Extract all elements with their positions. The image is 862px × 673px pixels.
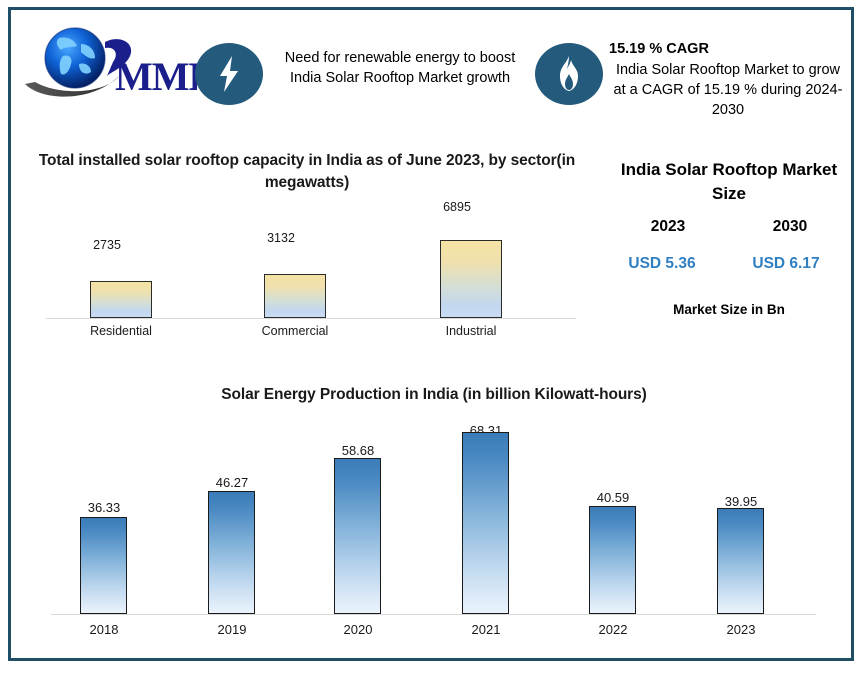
- lightning-bolt-icon: [195, 43, 263, 105]
- bar-industrial: [440, 240, 502, 318]
- bar-category-label: 2021: [431, 622, 541, 637]
- bar-value-label: 39.95: [696, 494, 786, 509]
- chart-solar-production: Solar Energy Production in India (in bil…: [17, 376, 851, 658]
- flame-glyph: [554, 54, 584, 94]
- chart-solar-production-title: Solar Energy Production in India (in bil…: [17, 386, 851, 404]
- bar-category-label: 2020: [303, 622, 413, 637]
- bar-value-label: 6895: [417, 200, 497, 214]
- svg-text:MMR: MMR: [115, 54, 197, 99]
- chart-solar-production-axis-line: [51, 614, 816, 615]
- market-size-title: India Solar Rooftop Market Size: [607, 158, 851, 206]
- statement-cagr-detail: India Solar Rooftop Market to grow at a …: [609, 60, 847, 120]
- bar-2019: [208, 491, 255, 614]
- market-size-value-2023: USD 5.36: [607, 255, 717, 273]
- bar-category-label: Commercial: [235, 324, 355, 338]
- bar-category-label: Residential: [61, 324, 181, 338]
- bar-value-label: 58.68: [313, 443, 403, 458]
- header-bar: MMR Need for renewable energy to boost I…: [11, 10, 851, 123]
- bar-2023: [717, 508, 764, 614]
- infographic-page: MMR Need for renewable energy to boost I…: [0, 0, 862, 673]
- chart-capacity-plot: 2735 Residential 3132 Commercial 6895 In…: [17, 214, 597, 344]
- mmr-logo: MMR: [19, 18, 197, 106]
- page-border: MMR Need for renewable energy to boost I…: [8, 7, 854, 661]
- bar-value-label: 2735: [67, 238, 147, 252]
- bar-category-label: 2019: [177, 622, 287, 637]
- chart-capacity-title: Total installed solar rooftop capacity i…: [37, 150, 577, 195]
- bar-value-label: 40.59: [568, 490, 658, 505]
- bolt-glyph: [214, 54, 244, 94]
- bar-value-label: 36.33: [59, 500, 149, 515]
- bar-2022: [589, 506, 636, 614]
- cagr-heading: 15.19 % CAGR: [609, 41, 845, 57]
- bar-2020: [334, 458, 381, 614]
- market-size-panel: India Solar Rooftop Market Size 2023 USD…: [607, 150, 851, 330]
- bar-value-label: 3132: [241, 231, 321, 245]
- market-size-footer: Market Size in Bn: [607, 302, 851, 317]
- bar-category-label: Industrial: [411, 324, 531, 338]
- chart-solar-production-plot: 36.33 2018 46.27 2019 58.68 2020 68.31 2…: [17, 420, 851, 650]
- flame-icon: [535, 43, 603, 105]
- bar-category-label: 2018: [49, 622, 159, 637]
- bar-residential: [90, 281, 152, 318]
- bar-value-label: 46.27: [187, 475, 277, 490]
- market-size-year-2030: 2030: [735, 218, 845, 236]
- bar-commercial: [264, 274, 326, 318]
- bar-2021: [462, 432, 509, 614]
- bar-category-label: 2023: [686, 622, 796, 637]
- globe-swoosh-logo-icon: MMR: [19, 18, 197, 106]
- market-size-year-2023: 2023: [613, 218, 723, 236]
- market-size-value-2030: USD 6.17: [731, 255, 841, 273]
- chart-capacity-axis-line: [46, 318, 576, 319]
- bar-2018: [80, 517, 127, 614]
- bar-category-label: 2022: [558, 622, 668, 637]
- chart-capacity-by-sector: Total installed solar rooftop capacity i…: [17, 142, 597, 357]
- statement-renewable-need: Need for renewable energy to boost India…: [269, 48, 531, 88]
